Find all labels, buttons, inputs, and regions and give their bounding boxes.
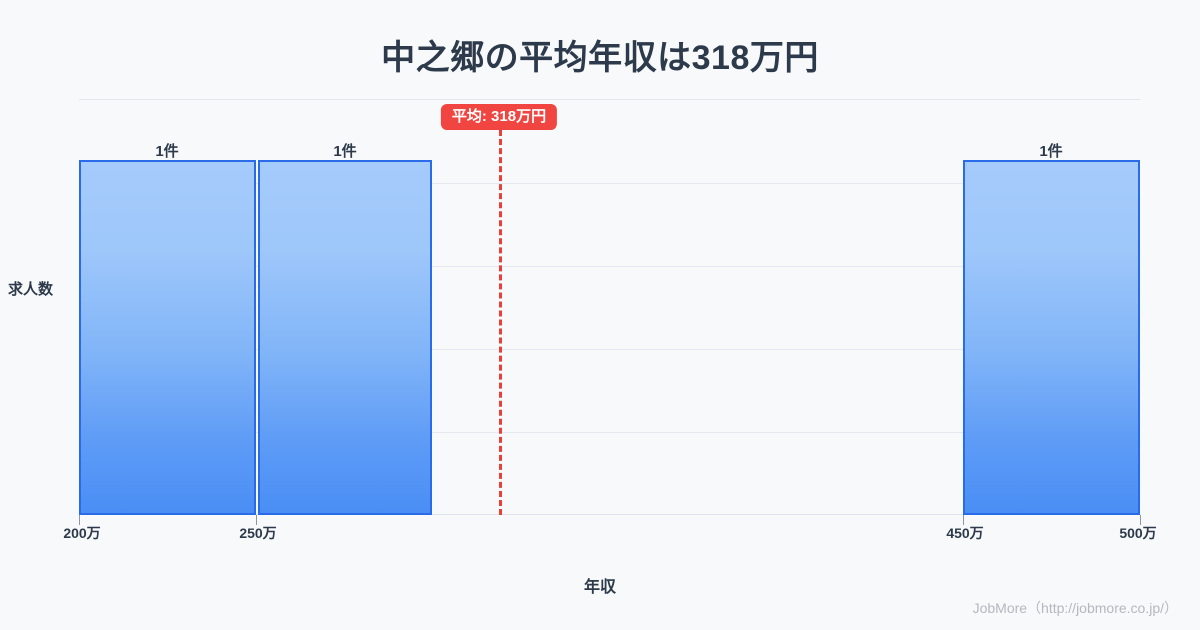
x-axis-tick-label: 500万: [1119, 523, 1156, 543]
x-axis-tick-label: 250万: [239, 523, 276, 543]
x-axis-tick-label: 200万: [63, 523, 100, 543]
chart-container: 中之郷の平均年収は318万円 1件 1件 1件 平均: 318万円 200万 2…: [0, 0, 1200, 630]
chart-title: 中之郷の平均年収は318万円: [0, 30, 1200, 79]
bar-value-label: 1件: [155, 140, 178, 161]
gridline: [79, 99, 1140, 100]
x-axis-title: 年収: [0, 573, 1200, 597]
bar[interactable]: [79, 160, 256, 515]
bar-value-label: 1件: [333, 140, 356, 161]
average-badge: 平均: 318万円: [441, 104, 557, 130]
y-axis-title: 求人数: [8, 278, 53, 299]
bar[interactable]: [963, 160, 1140, 515]
watermark-credit: JobMore（http://jobmore.co.jp/）: [973, 598, 1178, 618]
plot-area: [79, 99, 1140, 515]
bar[interactable]: [258, 160, 432, 515]
bar-value-label: 1件: [1039, 140, 1062, 161]
average-line: [499, 121, 502, 515]
x-axis-tick-label: 450万: [946, 523, 983, 543]
